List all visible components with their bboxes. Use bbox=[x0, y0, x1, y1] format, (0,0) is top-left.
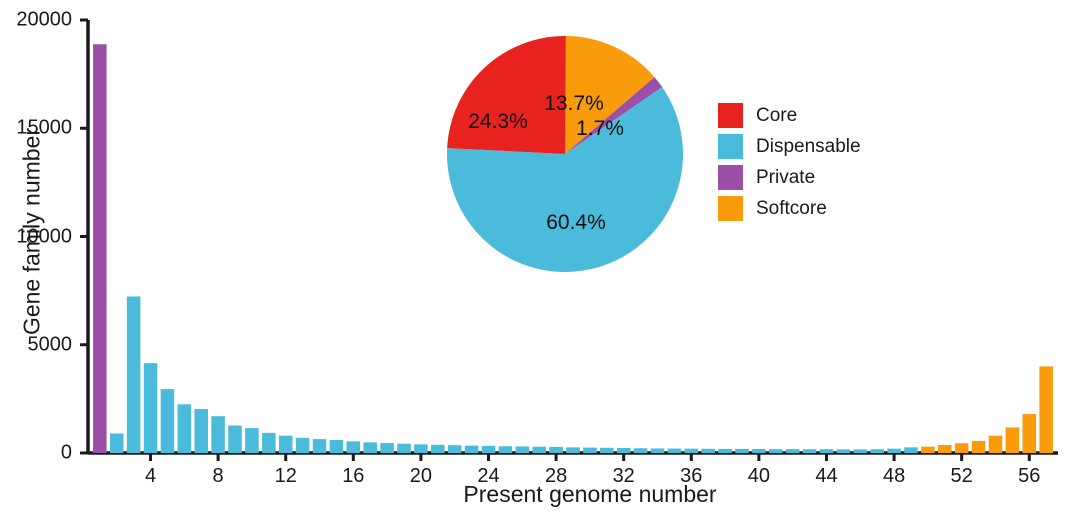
bar bbox=[245, 428, 259, 453]
bar bbox=[718, 449, 732, 453]
legend: CoreDispensablePrivateSoftcore bbox=[718, 100, 861, 224]
bar bbox=[617, 448, 631, 453]
bar bbox=[651, 448, 665, 453]
bar bbox=[634, 448, 648, 453]
bar bbox=[820, 449, 834, 453]
bar bbox=[870, 449, 884, 453]
legend-swatch-softcore bbox=[718, 196, 743, 221]
bar bbox=[752, 449, 766, 453]
bar bbox=[110, 434, 124, 453]
bar bbox=[735, 449, 749, 453]
pie-data-label: 60.4% bbox=[546, 211, 606, 234]
bar bbox=[566, 447, 580, 453]
bar bbox=[668, 449, 682, 453]
bar bbox=[194, 409, 208, 453]
bar bbox=[127, 296, 141, 453]
legend-label: Core bbox=[756, 106, 797, 125]
bar bbox=[921, 447, 935, 453]
bar bbox=[380, 443, 394, 453]
bar bbox=[228, 426, 242, 453]
bar bbox=[161, 389, 175, 453]
bar bbox=[532, 447, 546, 453]
bar bbox=[989, 436, 1003, 453]
bar bbox=[313, 439, 327, 453]
bar bbox=[786, 449, 800, 453]
bar bbox=[887, 449, 901, 453]
bar bbox=[414, 444, 428, 453]
pie-chart-inset: 13.7%1.7%60.4%24.3% bbox=[428, 32, 728, 302]
bar bbox=[347, 441, 361, 453]
bar bbox=[499, 446, 513, 453]
legend-item[interactable]: Softcore bbox=[718, 193, 861, 224]
bar bbox=[1006, 427, 1020, 453]
bar bbox=[1039, 366, 1053, 453]
legend-item[interactable]: Core bbox=[718, 100, 861, 131]
legend-swatch-private bbox=[718, 165, 743, 190]
bar bbox=[211, 416, 225, 453]
x-axis-title: Present genome number bbox=[120, 481, 1060, 508]
legend-label: Softcore bbox=[756, 199, 827, 218]
bar bbox=[701, 449, 715, 453]
bar bbox=[144, 363, 158, 453]
bar bbox=[938, 445, 952, 453]
bar bbox=[583, 448, 597, 453]
bar bbox=[431, 445, 445, 453]
bar bbox=[397, 444, 411, 453]
bar bbox=[972, 441, 986, 453]
legend-label: Dispensable bbox=[756, 137, 861, 156]
legend-label: Private bbox=[756, 168, 815, 187]
bar bbox=[904, 447, 918, 453]
figure-panel: Gene family number 05000100001500020000 … bbox=[0, 0, 1080, 518]
bar bbox=[854, 449, 868, 453]
bar bbox=[1023, 414, 1037, 453]
bar bbox=[363, 442, 377, 453]
bar bbox=[448, 445, 462, 453]
legend-item[interactable]: Private bbox=[718, 162, 861, 193]
pie-data-label: 13.7% bbox=[544, 92, 604, 115]
bar bbox=[600, 448, 614, 453]
pie-data-label: 24.3% bbox=[468, 110, 528, 133]
bar bbox=[955, 443, 969, 453]
bar bbox=[803, 449, 817, 453]
bar bbox=[279, 436, 293, 453]
bar bbox=[549, 447, 563, 453]
pie-data-label: 1.7% bbox=[576, 117, 624, 140]
bar bbox=[685, 449, 699, 453]
bar bbox=[296, 438, 310, 453]
pie-slices bbox=[447, 36, 683, 272]
bar bbox=[262, 433, 276, 453]
bar bbox=[482, 446, 496, 453]
bar bbox=[837, 449, 851, 453]
bar bbox=[178, 404, 192, 453]
legend-swatch-dispensable bbox=[718, 134, 743, 159]
legend-swatch-core bbox=[718, 103, 743, 128]
bar bbox=[769, 449, 783, 453]
bar bbox=[330, 440, 344, 453]
legend-item[interactable]: Dispensable bbox=[718, 131, 861, 162]
bar bbox=[93, 44, 107, 453]
bar bbox=[465, 446, 479, 453]
bar bbox=[516, 447, 530, 453]
